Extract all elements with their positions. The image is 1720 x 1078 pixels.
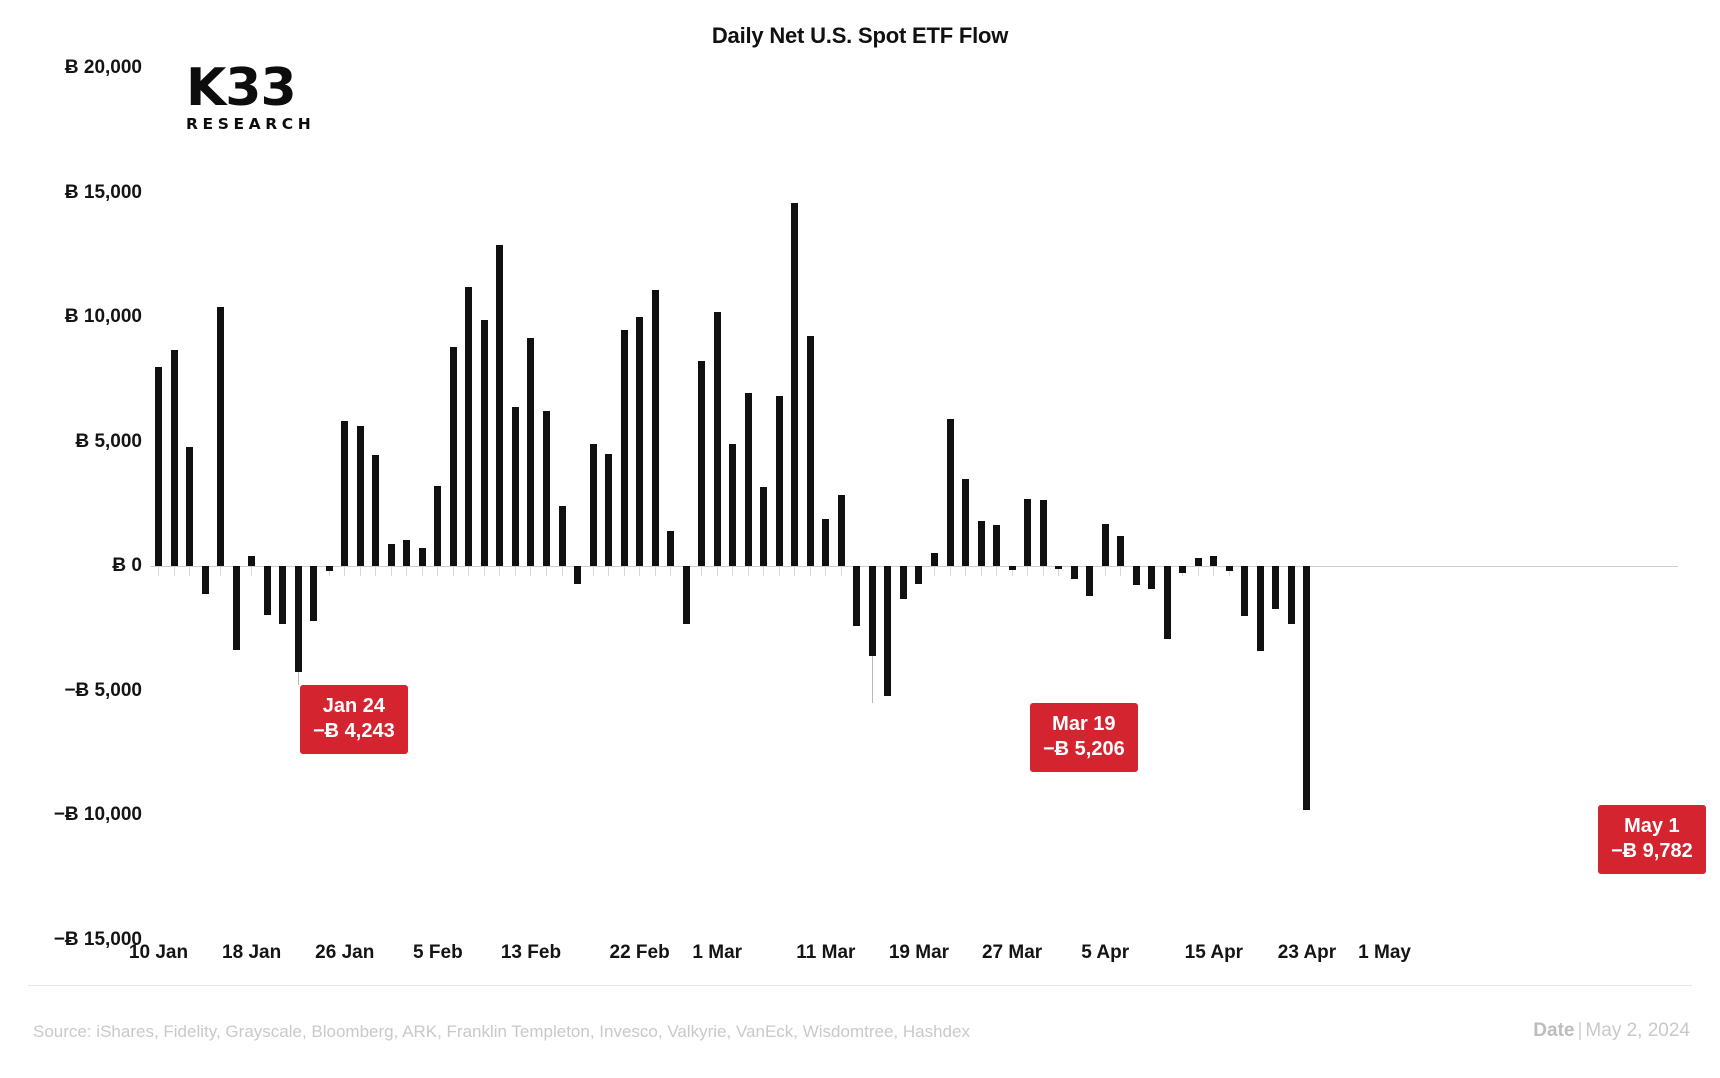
x-axis-tick-label: 15 Apr xyxy=(1185,942,1243,964)
bar xyxy=(202,566,209,593)
bar xyxy=(1040,500,1047,566)
bar xyxy=(1210,556,1217,566)
callout-date: Mar 19 xyxy=(1043,712,1125,737)
x-axis-tick-mark xyxy=(763,567,764,576)
bar xyxy=(776,396,783,567)
bar xyxy=(1164,566,1171,638)
x-axis-tick-mark xyxy=(965,567,966,576)
x-axis-tick-label: 5 Apr xyxy=(1081,942,1129,964)
x-axis-tick-mark xyxy=(934,567,935,576)
bar xyxy=(155,367,162,566)
x-axis-tick-mark xyxy=(453,567,454,576)
x-axis-tick-label: 19 Mar xyxy=(889,942,949,964)
x-axis-tick-mark xyxy=(1043,567,1044,576)
chart-page: Daily Net U.S. Spot ETF Flow K33 RESEARC… xyxy=(0,0,1720,1078)
footer-date-value: May 2, 2024 xyxy=(1585,1020,1690,1041)
footer-source: Source: iShares, Fidelity, Grayscale, Bl… xyxy=(33,1022,970,1042)
bar xyxy=(838,495,845,566)
bar xyxy=(791,203,798,567)
bar xyxy=(388,544,395,566)
bar xyxy=(248,556,255,566)
bar xyxy=(1102,524,1109,566)
x-axis-tick-mark xyxy=(794,567,795,576)
bar xyxy=(543,411,550,567)
x-axis-tick-mark xyxy=(515,567,516,576)
y-axis-tick-label: −Ƀ 15,000 xyxy=(0,929,142,951)
bar xyxy=(1117,536,1124,566)
x-axis-tick-mark xyxy=(810,567,811,576)
x-axis-tick-label: 11 Mar xyxy=(796,942,855,964)
bar xyxy=(714,312,721,566)
bar xyxy=(1288,566,1295,623)
x-axis-tick-mark xyxy=(981,567,982,576)
bar xyxy=(465,287,472,566)
bar xyxy=(1009,566,1016,570)
x-axis-tick-label: 1 Mar xyxy=(692,942,742,964)
bar xyxy=(450,347,457,566)
x-axis-tick-mark xyxy=(375,567,376,576)
x-axis-tick-label: 26 Jan xyxy=(315,942,374,964)
bar xyxy=(698,361,705,567)
bar xyxy=(822,519,829,566)
x-axis-tick-mark xyxy=(748,567,749,576)
x-axis-tick-mark xyxy=(220,567,221,576)
bar xyxy=(279,566,286,623)
bar xyxy=(1272,566,1279,608)
bar xyxy=(869,566,876,656)
x-axis-tick-mark xyxy=(996,567,997,576)
x-axis-tick-mark xyxy=(825,567,826,576)
y-axis-tick-label: Ƀ 5,000 xyxy=(0,431,142,453)
bar xyxy=(1195,558,1202,566)
x-axis-tick-mark xyxy=(1198,567,1199,576)
footer-date-label: Date xyxy=(1533,1020,1574,1041)
plot-area: Ƀ 20,000Ƀ 15,000Ƀ 10,000Ƀ 5,000Ƀ 0−Ƀ 5,0… xyxy=(150,68,1678,940)
y-axis-tick-label: −Ƀ 5,000 xyxy=(0,680,142,702)
bar xyxy=(590,444,597,566)
x-axis-tick-mark xyxy=(950,567,951,576)
callout-value: −Ƀ 4,243 xyxy=(313,719,395,744)
bar xyxy=(1086,566,1093,596)
page-title: Daily Net U.S. Spot ETF Flow xyxy=(0,23,1720,49)
bar xyxy=(1024,499,1031,566)
bar xyxy=(527,338,534,566)
x-axis-tick-mark xyxy=(670,567,671,576)
zero-baseline xyxy=(150,566,1678,567)
callout-leader-line xyxy=(298,672,299,685)
bar xyxy=(1148,566,1155,588)
x-axis-tick-mark xyxy=(189,567,190,576)
bar xyxy=(729,444,736,566)
x-axis-tick-mark xyxy=(639,567,640,576)
bar xyxy=(1257,566,1264,651)
bar xyxy=(357,426,364,566)
callout-date: May 1 xyxy=(1611,814,1693,839)
x-axis-tick-mark xyxy=(1213,567,1214,576)
x-axis-tick-mark xyxy=(841,567,842,576)
callout-value: −Ƀ 9,782 xyxy=(1611,839,1693,864)
x-axis-tick-mark xyxy=(1120,567,1121,576)
footer-date-separator: | xyxy=(1574,1020,1585,1041)
y-axis-tick-label: −Ƀ 10,000 xyxy=(0,804,142,826)
callout-leader-line xyxy=(872,656,873,703)
x-axis-tick-mark xyxy=(360,567,361,576)
x-axis-tick-label: 18 Jan xyxy=(222,942,281,964)
y-axis-tick-label: Ƀ 20,000 xyxy=(0,57,142,79)
bar xyxy=(559,506,566,566)
bar xyxy=(853,566,860,626)
x-axis-tick-mark xyxy=(1105,567,1106,576)
x-axis-tick-mark xyxy=(344,567,345,576)
bar xyxy=(947,419,954,566)
bar xyxy=(310,566,317,621)
bar xyxy=(186,447,193,567)
callout-value: −Ƀ 5,206 xyxy=(1043,737,1125,762)
bar xyxy=(1241,566,1248,616)
bar xyxy=(1179,566,1186,572)
bar xyxy=(264,566,271,615)
x-axis-tick-mark xyxy=(422,567,423,576)
x-axis: 10 Jan18 Jan26 Jan5 Feb13 Feb22 Feb1 Mar… xyxy=(150,942,1678,976)
bar xyxy=(403,540,410,566)
y-axis-tick-label: Ƀ 0 xyxy=(0,555,142,577)
bar xyxy=(419,548,426,566)
bar xyxy=(217,307,224,566)
bar xyxy=(1133,566,1140,585)
x-axis-tick-mark xyxy=(437,567,438,576)
bar xyxy=(295,566,302,672)
bar xyxy=(884,566,891,696)
x-axis-tick-mark xyxy=(391,567,392,576)
x-axis-tick-mark xyxy=(530,567,531,576)
x-axis-tick-mark xyxy=(158,567,159,576)
x-axis-tick-mark xyxy=(701,567,702,576)
callout-date: Jan 24 xyxy=(313,694,395,719)
bar xyxy=(807,336,814,566)
bar xyxy=(683,566,690,623)
x-axis-tick-mark xyxy=(174,567,175,576)
x-axis-tick-mark xyxy=(406,567,407,576)
x-axis-tick-mark xyxy=(562,567,563,576)
x-axis-tick-mark xyxy=(732,567,733,576)
x-axis-tick-mark xyxy=(779,567,780,576)
y-axis-tick-label: Ƀ 10,000 xyxy=(0,306,142,328)
x-axis-tick-mark xyxy=(624,567,625,576)
x-axis-tick-mark xyxy=(251,567,252,576)
x-axis-tick-label: 5 Feb xyxy=(413,942,463,964)
bar xyxy=(1303,566,1310,810)
annotation-callout-may-1: May 1−Ƀ 9,782 xyxy=(1598,805,1706,874)
x-axis-tick-label: 23 Apr xyxy=(1278,942,1336,964)
x-axis-tick-mark xyxy=(484,567,485,576)
axis-rule-divider xyxy=(28,985,1692,986)
bar xyxy=(931,553,938,566)
y-axis-tick-label: Ƀ 15,000 xyxy=(0,182,142,204)
bar xyxy=(745,393,752,566)
x-axis-tick-label: 22 Feb xyxy=(610,942,670,964)
bar xyxy=(962,479,969,566)
bar xyxy=(434,486,441,566)
bar xyxy=(900,566,907,598)
x-axis-tick-mark xyxy=(593,567,594,576)
x-axis-tick-mark xyxy=(468,567,469,576)
x-axis-tick-mark xyxy=(499,567,500,576)
bar xyxy=(171,350,178,566)
x-axis-tick-mark xyxy=(608,567,609,576)
bar xyxy=(605,454,612,566)
annotation-callout-jan-24: Jan 24−Ƀ 4,243 xyxy=(300,685,408,754)
bar xyxy=(978,521,985,566)
bar xyxy=(915,566,922,583)
bar xyxy=(1071,566,1078,578)
x-axis-tick-label: 13 Feb xyxy=(501,942,561,964)
bar xyxy=(512,407,519,566)
bar xyxy=(341,421,348,567)
bar xyxy=(574,566,581,583)
x-axis-tick-label: 27 Mar xyxy=(982,942,1042,964)
x-axis-tick-mark xyxy=(717,567,718,576)
x-axis-tick-label: 1 May xyxy=(1358,942,1411,964)
bar xyxy=(496,245,503,566)
annotation-callout-mar-19: Mar 19−Ƀ 5,206 xyxy=(1030,703,1138,772)
bar xyxy=(667,531,674,566)
bar xyxy=(1226,566,1233,570)
bar xyxy=(760,487,767,567)
bar xyxy=(1055,566,1062,569)
bar xyxy=(621,330,628,567)
x-axis-tick-label: 10 Jan xyxy=(129,942,188,964)
bar xyxy=(652,290,659,567)
bar xyxy=(372,455,379,566)
bar xyxy=(233,566,240,649)
bar xyxy=(481,320,488,567)
bar xyxy=(326,566,333,570)
x-axis-tick-mark xyxy=(1027,567,1028,576)
bar xyxy=(993,525,1000,566)
x-axis-tick-mark xyxy=(546,567,547,576)
x-axis-tick-mark xyxy=(655,567,656,576)
footer-date: Date|May 2, 2024 xyxy=(1533,1020,1690,1042)
bar xyxy=(636,317,643,566)
